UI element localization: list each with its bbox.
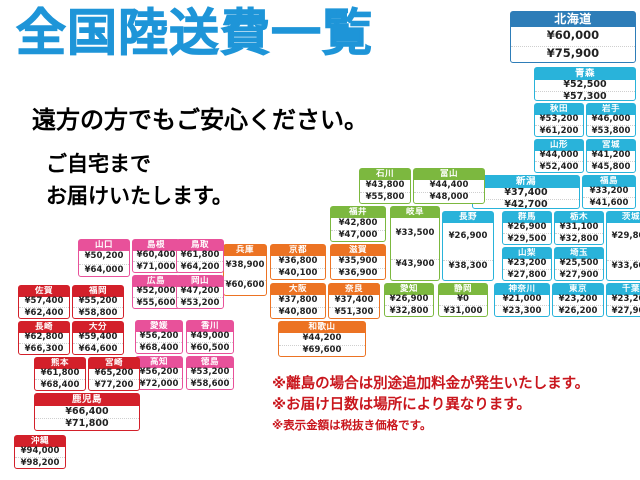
pref-prices-aomori: ¥52,500 ¥57,300 (535, 80, 635, 101)
pref-name-hokkaido: 北海道 (511, 12, 635, 27)
pref-name-tokushima: 徳島 (187, 357, 233, 368)
pref-prices-kumamoto: ¥61,800 ¥68,400 (35, 369, 85, 390)
pref-prices-miyagi: ¥41,200 ¥45,800 (587, 151, 635, 172)
pref-name-tokyo: 東京 (553, 284, 603, 295)
pref-prices-chiba: ¥23,200 ¥27,900 (607, 295, 640, 316)
pref-price2-saga: ¥62,400 (19, 307, 69, 318)
pref-price1-chiba: ¥23,200 (607, 295, 640, 305)
pref-name-yamanashi: 山梨 (503, 248, 551, 259)
pref-price2-niigata: ¥42,700 (473, 199, 579, 209)
pref-price2-tokyo: ¥26,200 (553, 305, 603, 316)
pref-card-tokyo[interactable]: 東京 ¥23,200 ¥26,200 (552, 283, 604, 317)
pref-prices-nara: ¥37,400 ¥51,300 (329, 295, 379, 318)
pref-prices-fukui: ¥42,800 ¥47,000 (331, 218, 385, 241)
pref-price2-hiroshima: ¥55,600 (133, 297, 179, 308)
pref-name-niigata: 新潟 (473, 176, 579, 188)
pref-prices-kochi: ¥56,200 ¥72,000 (136, 368, 182, 389)
pref-price1-nara: ¥37,400 (329, 295, 379, 305)
pref-price2-kagoshima: ¥71,800 (35, 418, 139, 430)
pref-name-gifu: 岐阜 (391, 207, 439, 218)
pref-price2-kochi: ¥72,000 (136, 378, 182, 389)
pref-price1-gifu: ¥33,500 (391, 228, 439, 238)
pref-prices-toyama: ¥44,400 ¥48,000 (414, 180, 484, 203)
pref-name-yamaguchi: 山口 (79, 240, 129, 251)
pref-name-shizuoka: 静岡 (439, 284, 487, 295)
pref-price2-shiga: ¥36,900 (331, 268, 385, 279)
notices-block: ※離島の場合は別途追加料金が発生いたします。 ※お届け日数は場所により異なります… (272, 374, 589, 435)
pref-card-miyagi[interactable]: 宮城 ¥41,200 ¥45,800 (586, 139, 636, 173)
pref-card-yamaguchi[interactable]: 山口 ¥50,200 ¥64,000 (78, 239, 130, 277)
pref-card-nara[interactable]: 奈良 ¥37,400 ¥51,300 (328, 283, 380, 319)
pref-card-miyazaki[interactable]: 宮崎 ¥65,200 ¥77,200 (88, 357, 140, 391)
pref-name-nagasaki: 長崎 (19, 322, 69, 333)
pref-name-shimane: 島根 (133, 240, 179, 251)
pref-price2-kyoto: ¥40,100 (271, 268, 325, 279)
pref-prices-gifu: ¥33,500 ¥43,900 (391, 218, 439, 280)
pref-name-fukui: 福井 (331, 207, 385, 218)
pref-prices-fukuoka: ¥55,200 ¥58,800 (73, 297, 123, 318)
pref-price1-saitama: ¥25,500 (555, 259, 603, 269)
notice-delivery-days: ※お届け日数は場所により異なります。 (272, 395, 589, 416)
pref-price2-nagano: ¥38,300 (443, 260, 493, 271)
pref-card-fukuoka[interactable]: 福岡 ¥55,200 ¥58,800 (72, 285, 124, 319)
pref-card-aichi[interactable]: 愛知 ¥26,900 ¥32,800 (384, 283, 434, 317)
pref-prices-fukushima: ¥33,200 ¥41,600 (583, 187, 635, 208)
pref-card-niigata[interactable]: 新潟 ¥37,400 ¥42,700 (472, 175, 580, 209)
pref-name-shiga: 滋賀 (331, 245, 385, 256)
pref-price2-kanagawa: ¥23,300 (495, 305, 549, 316)
pref-price1-miyagi: ¥41,200 (587, 151, 635, 161)
pref-price1-fukuoka: ¥55,200 (73, 297, 123, 307)
pref-prices-shizuoka: ¥0 ¥31,000 (439, 295, 487, 316)
pref-price1-ibaraki: ¥29,800 (607, 232, 640, 242)
pref-card-kagoshima[interactable]: 鹿児島 ¥66,400 ¥71,800 (34, 393, 140, 431)
pref-price1-kagawa: ¥49,000 (187, 332, 233, 342)
pref-price1-yamagata: ¥44,000 (535, 151, 583, 161)
pref-price2-aichi: ¥32,800 (385, 305, 433, 316)
pref-price1-yamanashi: ¥23,200 (503, 259, 551, 269)
pref-price1-fukui: ¥42,800 (331, 218, 385, 228)
pref-card-yamanashi[interactable]: 山梨 ¥23,200 ¥27,800 (502, 247, 552, 281)
pref-name-ehime: 愛媛 (136, 321, 182, 332)
pref-card-aomori[interactable]: 青森 ¥52,500 ¥57,300 (534, 67, 636, 101)
pref-price2-yamanashi: ¥27,800 (503, 269, 551, 280)
pref-card-fukui[interactable]: 福井 ¥42,800 ¥47,000 (330, 206, 386, 242)
pref-price2-gunma: ¥29,500 (503, 233, 551, 244)
pref-price1-hokkaido: ¥60,000 (511, 29, 635, 42)
pref-price2-ibaraki: ¥33,600 (607, 260, 640, 271)
pref-card-kagawa[interactable]: 香川 ¥49,000 ¥60,500 (186, 320, 234, 354)
pref-prices-iwate: ¥46,000 ¥53,800 (587, 115, 635, 136)
pref-prices-kyoto: ¥36,800 ¥40,100 (271, 256, 325, 279)
pref-prices-kanagawa: ¥21,000 ¥23,300 (495, 295, 549, 316)
pref-price1-akita: ¥53,200 (535, 115, 583, 125)
pref-price2-osaka: ¥40,800 (271, 307, 325, 318)
pref-price1-okayama: ¥47,200 (177, 287, 223, 297)
pref-name-yamagata: 山形 (535, 140, 583, 151)
pref-card-nagasaki[interactable]: 長崎 ¥62,800 ¥66,300 (18, 321, 70, 355)
pref-card-kochi[interactable]: 高知 ¥56,200 ¥72,000 (135, 356, 183, 390)
pref-name-nagano: 長野 (443, 212, 493, 223)
pref-prices-miyazaki: ¥65,200 ¥77,200 (89, 369, 139, 390)
pref-prices-nagano: ¥26,900 ¥38,300 (443, 223, 493, 280)
pref-name-akita: 秋田 (535, 104, 583, 115)
pref-price2-tochigi: ¥32,800 (555, 233, 603, 244)
pref-price2-kagawa: ¥60,500 (187, 342, 233, 353)
pref-price2-fukuoka: ¥58,800 (73, 307, 123, 318)
pref-price1-nagano: ¥26,900 (443, 232, 493, 242)
pref-price1-toyama: ¥44,400 (414, 180, 484, 190)
pref-card-iwate[interactable]: 岩手 ¥46,000 ¥53,800 (586, 103, 636, 137)
pref-price2-kumamoto: ¥68,400 (35, 379, 85, 390)
pref-prices-okayama: ¥47,200 ¥53,200 (177, 287, 223, 308)
pref-price2-saitama: ¥27,900 (555, 269, 603, 280)
pref-prices-oita: ¥59,400 ¥64,600 (73, 333, 123, 354)
pref-prices-ishikawa: ¥43,800 ¥55,800 (360, 180, 410, 203)
pref-price1-gunma: ¥26,900 (503, 223, 551, 233)
pref-price2-yamaguchi: ¥64,000 (79, 264, 129, 275)
pref-price2-shimane: ¥71,000 (133, 261, 179, 272)
pref-price2-okayama: ¥53,200 (177, 297, 223, 308)
pref-prices-tochigi: ¥31,100 ¥32,800 (555, 223, 603, 244)
pref-name-kanagawa: 神奈川 (495, 284, 549, 295)
pref-name-ishikawa: 石川 (360, 169, 410, 180)
pref-name-kumamoto: 熊本 (35, 358, 85, 369)
pref-price2-wakayama: ¥69,600 (279, 345, 365, 356)
pref-price1-wakayama: ¥44,200 (279, 333, 365, 343)
pref-card-shizuoka[interactable]: 静岡 ¥0 ¥31,000 (438, 283, 488, 317)
pref-name-kochi: 高知 (136, 357, 182, 368)
pref-name-tottori: 鳥取 (177, 240, 223, 251)
pref-name-fukuoka: 福岡 (73, 286, 123, 297)
notice-tax-excluded: ※表示金額は税抜き価格です。 (272, 416, 589, 435)
pref-price1-tochigi: ¥31,100 (555, 223, 603, 233)
pref-prices-ibaraki: ¥29,800 ¥33,600 (607, 223, 640, 280)
pref-name-miyagi: 宮城 (587, 140, 635, 151)
pref-price2-toyama: ¥48,000 (414, 192, 484, 203)
pref-price1-yamaguchi: ¥50,200 (79, 252, 129, 262)
pref-prices-saga: ¥57,400 ¥62,400 (19, 297, 69, 318)
pref-card-kyoto[interactable]: 京都 ¥36,800 ¥40,100 (270, 244, 326, 280)
pref-price2-ehime: ¥68,400 (136, 342, 182, 353)
pref-price2-fukui: ¥47,000 (331, 230, 385, 241)
pref-card-fukushima[interactable]: 福島 ¥33,200 ¥41,600 (582, 175, 636, 209)
pref-card-ehime[interactable]: 愛媛 ¥56,200 ¥68,400 (135, 320, 183, 354)
pref-price2-chiba: ¥27,900 (607, 305, 640, 316)
pref-name-gunma: 群馬 (503, 212, 551, 223)
pref-card-tottori[interactable]: 鳥取 ¥61,800 ¥64,200 (176, 239, 224, 273)
subtitle-delivery-line1: ご自宅まで (46, 148, 233, 180)
pref-card-shimane[interactable]: 島根 ¥60,400 ¥71,000 (132, 239, 180, 273)
pref-price1-kagoshima: ¥66,400 (35, 406, 139, 417)
subtitle-delivery: ご自宅まで お届けいたします。 (46, 148, 233, 212)
pref-name-miyazaki: 宮崎 (89, 358, 139, 369)
pref-prices-akita: ¥53,200 ¥61,200 (535, 115, 583, 136)
pref-card-gifu[interactable]: 岐阜 ¥33,500 ¥43,900 (390, 206, 440, 281)
pref-price1-kochi: ¥56,200 (136, 368, 182, 378)
pref-prices-nagasaki: ¥62,800 ¥66,300 (19, 333, 69, 354)
pref-name-tochigi: 栃木 (555, 212, 603, 223)
pref-name-hyogo: 兵庫 (224, 245, 266, 256)
pref-card-gunma[interactable]: 群馬 ¥26,900 ¥29,500 (502, 211, 552, 245)
pref-price1-tokyo: ¥23,200 (553, 295, 603, 305)
pref-price2-miyazaki: ¥77,200 (89, 379, 139, 390)
pref-price1-ehime: ¥56,200 (136, 332, 182, 342)
pref-prices-kagawa: ¥49,000 ¥60,500 (187, 332, 233, 353)
pref-card-saitama[interactable]: 埼玉 ¥25,500 ¥27,900 (554, 247, 604, 281)
pref-card-tochigi[interactable]: 栃木 ¥31,100 ¥32,800 (554, 211, 604, 245)
pref-card-okinawa[interactable]: 沖縄 ¥94,000 ¥98,200 (14, 435, 66, 469)
pref-price2-tokushima: ¥58,600 (187, 378, 233, 389)
pref-card-kanagawa[interactable]: 神奈川 ¥21,000 ¥23,300 (494, 283, 550, 317)
pref-price2-yamagata: ¥52,400 (535, 161, 583, 172)
pref-price2-shizuoka: ¥31,000 (439, 305, 487, 316)
pref-prices-yamagata: ¥44,000 ¥52,400 (535, 151, 583, 172)
pref-name-chiba: 千葉 (607, 284, 640, 295)
notice-remote-island: ※離島の場合は別途追加料金が発生いたします。 (272, 374, 589, 395)
pref-price1-kanagawa: ¥21,000 (495, 295, 549, 305)
pref-price2-hokkaido: ¥75,900 (511, 46, 635, 60)
pref-prices-tokyo: ¥23,200 ¥26,200 (553, 295, 603, 316)
pref-price1-kumamoto: ¥61,800 (35, 369, 85, 379)
pref-name-okayama: 岡山 (177, 276, 223, 287)
pref-name-hiroshima: 広島 (133, 276, 179, 287)
pref-price1-hiroshima: ¥52,000 (133, 287, 179, 297)
pref-name-saga: 佐賀 (19, 286, 69, 297)
pref-price2-oita: ¥64,600 (73, 343, 123, 354)
pref-card-wakayama[interactable]: 和歌山 ¥44,200 ¥69,600 (278, 321, 366, 357)
pref-name-kagoshima: 鹿児島 (35, 394, 139, 406)
pref-name-aomori: 青森 (535, 68, 635, 80)
pref-name-saitama: 埼玉 (555, 248, 603, 259)
pref-price2-fukushima: ¥41,600 (583, 197, 635, 208)
pref-price1-shimane: ¥60,400 (133, 251, 179, 261)
pref-price2-miyagi: ¥45,800 (587, 161, 635, 172)
fee-chart-canvas: 全国陸送費一覧 遠方の方でもご安心ください。 ご自宅まで お届けいたします。 ※… (0, 0, 640, 480)
subtitle-delivery-line2: お届けいたします。 (46, 180, 233, 212)
pref-prices-hiroshima: ¥52,000 ¥55,600 (133, 287, 179, 308)
pref-card-kumamoto[interactable]: 熊本 ¥61,800 ¥68,400 (34, 357, 86, 391)
pref-card-hokkaido[interactable]: 北海道 ¥60,000 ¥75,900 (510, 11, 636, 63)
pref-price1-iwate: ¥46,000 (587, 115, 635, 125)
pref-price1-niigata: ¥37,400 (473, 188, 579, 199)
pref-card-tokushima[interactable]: 徳島 ¥53,200 ¥58,600 (186, 356, 234, 390)
pref-card-yamagata[interactable]: 山形 ¥44,000 ¥52,400 (534, 139, 584, 173)
pref-price1-oita: ¥59,400 (73, 333, 123, 343)
pref-name-ibaraki: 茨城 (607, 212, 640, 223)
pref-card-oita[interactable]: 大分 ¥59,400 ¥64,600 (72, 321, 124, 355)
pref-price2-ishikawa: ¥55,800 (360, 192, 410, 203)
pref-name-nara: 奈良 (329, 284, 379, 295)
pref-prices-shimane: ¥60,400 ¥71,000 (133, 251, 179, 272)
pref-prices-osaka: ¥37,800 ¥40,800 (271, 295, 325, 318)
pref-name-fukushima: 福島 (583, 176, 635, 187)
pref-prices-kagoshima: ¥66,400 ¥71,800 (35, 406, 139, 430)
pref-price2-akita: ¥61,200 (535, 125, 583, 136)
pref-name-kagawa: 香川 (187, 321, 233, 332)
pref-price2-tottori: ¥64,200 (177, 261, 223, 272)
pref-prices-gunma: ¥26,900 ¥29,500 (503, 223, 551, 244)
pref-prices-shiga: ¥35,900 ¥36,900 (331, 256, 385, 279)
pref-prices-okinawa: ¥94,000 ¥98,200 (15, 447, 65, 468)
pref-name-osaka: 大阪 (271, 284, 325, 295)
pref-name-oita: 大分 (73, 322, 123, 333)
pref-card-ishikawa[interactable]: 石川 ¥43,800 ¥55,800 (359, 168, 411, 204)
pref-card-hyogo[interactable]: 兵庫 ¥38,900 ¥60,600 (223, 244, 267, 296)
pref-card-okayama[interactable]: 岡山 ¥47,200 ¥53,200 (176, 275, 224, 309)
pref-name-okinawa: 沖縄 (15, 436, 65, 447)
pref-card-nagano[interactable]: 長野 ¥26,900 ¥38,300 (442, 211, 494, 281)
pref-card-toyama[interactable]: 富山 ¥44,400 ¥48,000 (413, 168, 485, 204)
pref-card-osaka[interactable]: 大阪 ¥37,800 ¥40,800 (270, 283, 326, 319)
pref-prices-ehime: ¥56,200 ¥68,400 (136, 332, 182, 353)
pref-card-ibaraki[interactable]: 茨城 ¥29,800 ¥33,600 (606, 211, 640, 281)
pref-prices-tokushima: ¥53,200 ¥58,600 (187, 368, 233, 389)
pref-price1-ishikawa: ¥43,800 (360, 180, 410, 190)
pref-prices-hyogo: ¥38,900 ¥60,600 (224, 256, 266, 295)
pref-name-kyoto: 京都 (271, 245, 325, 256)
pref-card-chiba[interactable]: 千葉 ¥23,200 ¥27,900 (606, 283, 640, 317)
pref-price1-kyoto: ¥36,800 (271, 256, 325, 266)
pref-prices-saitama: ¥25,500 ¥27,900 (555, 259, 603, 280)
pref-prices-tottori: ¥61,800 ¥64,200 (177, 251, 223, 272)
pref-price2-iwate: ¥53,800 (587, 125, 635, 136)
pref-price1-osaka: ¥37,800 (271, 295, 325, 305)
pref-name-aichi: 愛知 (385, 284, 433, 295)
pref-prices-wakayama: ¥44,200 ¥69,600 (279, 333, 365, 356)
pref-price2-hyogo: ¥60,600 (224, 280, 266, 291)
pref-price1-aomori: ¥52,500 (535, 80, 635, 91)
pref-prices-hokkaido: ¥60,000 ¥75,900 (511, 27, 635, 62)
pref-price2-nagasaki: ¥66,300 (19, 343, 69, 354)
pref-price1-shizuoka: ¥0 (439, 295, 487, 305)
pref-price1-hyogo: ¥38,900 (224, 260, 266, 270)
pref-price2-gifu: ¥43,900 (391, 259, 439, 270)
pref-card-saga[interactable]: 佐賀 ¥57,400 ¥62,400 (18, 285, 70, 319)
pref-price2-aomori: ¥57,300 (535, 91, 635, 101)
pref-price1-tokushima: ¥53,200 (187, 368, 233, 378)
pref-prices-aichi: ¥26,900 ¥32,800 (385, 295, 433, 316)
pref-price1-aichi: ¥26,900 (385, 295, 433, 305)
subtitle-reassurance: 遠方の方でもご安心ください。 (32, 100, 368, 135)
pref-price1-fukushima: ¥33,200 (583, 187, 635, 197)
pref-prices-yamaguchi: ¥50,200 ¥64,000 (79, 251, 129, 276)
pref-price2-nara: ¥51,300 (329, 307, 379, 318)
page-title: 全国陸送費一覧 (16, 8, 373, 58)
pref-card-akita[interactable]: 秋田 ¥53,200 ¥61,200 (534, 103, 584, 137)
pref-price1-miyazaki: ¥65,200 (89, 369, 139, 379)
pref-card-shiga[interactable]: 滋賀 ¥35,900 ¥36,900 (330, 244, 386, 280)
pref-name-wakayama: 和歌山 (279, 322, 365, 333)
pref-name-toyama: 富山 (414, 169, 484, 180)
pref-prices-niigata: ¥37,400 ¥42,700 (473, 188, 579, 209)
pref-price2-okinawa: ¥98,200 (15, 457, 65, 468)
pref-price1-nagasaki: ¥62,800 (19, 333, 69, 343)
pref-prices-yamanashi: ¥23,200 ¥27,800 (503, 259, 551, 280)
pref-price1-shiga: ¥35,900 (331, 256, 385, 266)
pref-price1-okinawa: ¥94,000 (15, 447, 65, 457)
pref-name-iwate: 岩手 (587, 104, 635, 115)
pref-price1-saga: ¥57,400 (19, 297, 69, 307)
pref-card-hiroshima[interactable]: 広島 ¥52,000 ¥55,600 (132, 275, 180, 309)
pref-price1-tottori: ¥61,800 (177, 251, 223, 261)
